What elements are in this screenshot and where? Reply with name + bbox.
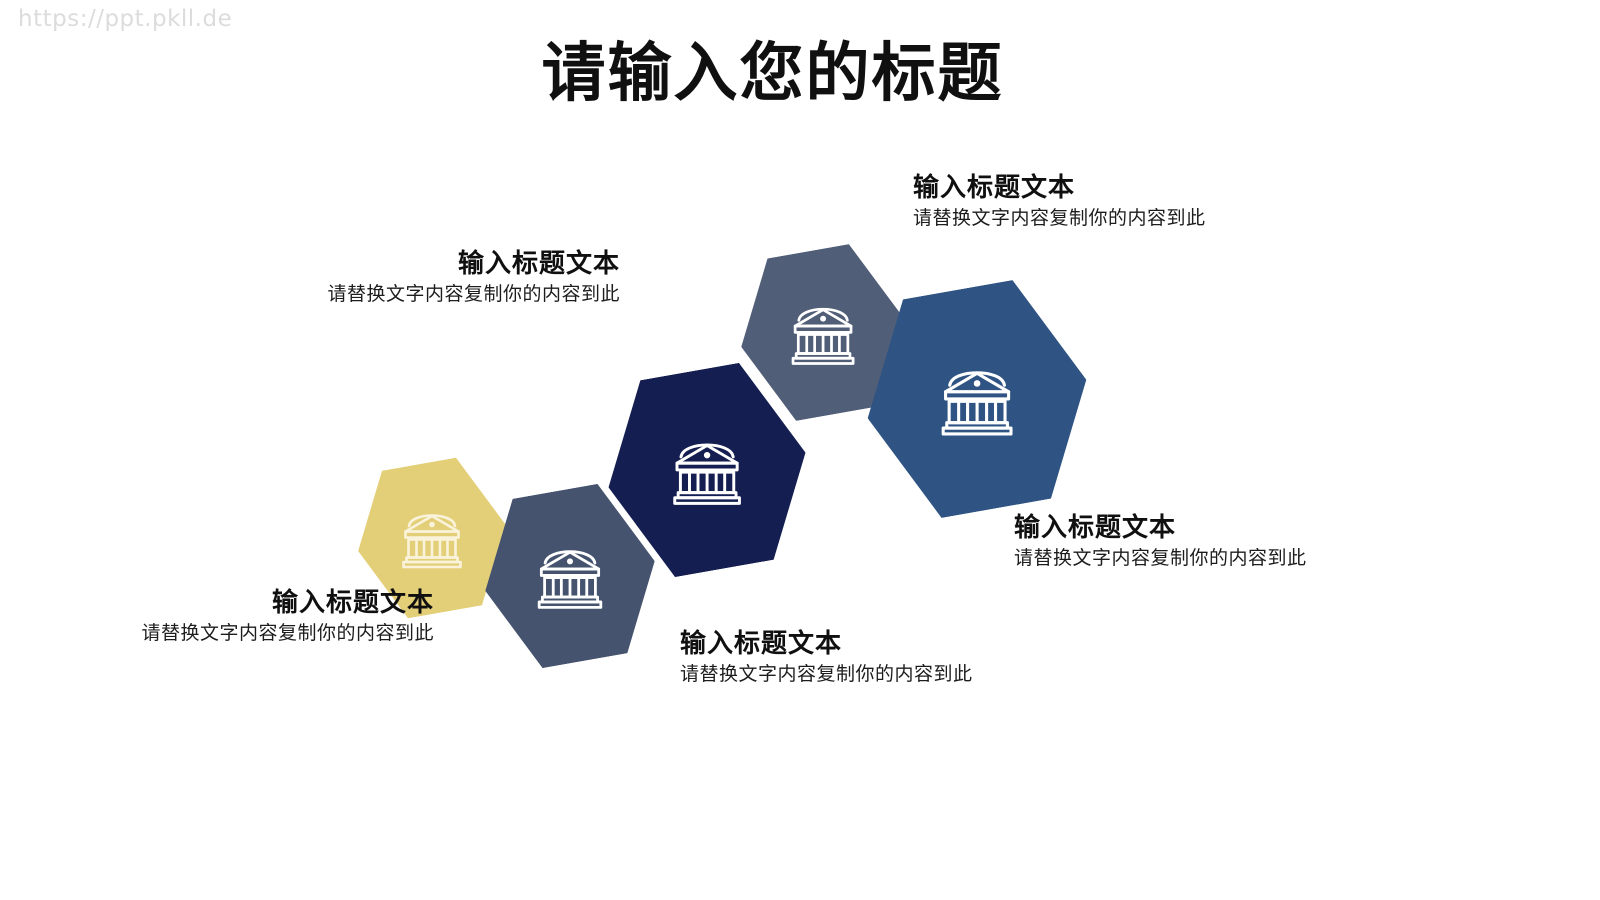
label-node-5: 输入标题文本 请替换文字内容复制你的内容到此 [1014,511,1454,573]
slide-canvas: https://ppt.pkll.de 请输入您的标题 [0,0,1600,900]
bank-icon [784,298,862,368]
label-desc-2: 请替换文字内容复制你的内容到此 [680,660,1120,689]
hexagon-icon-wrap-2 [530,540,610,612]
label-node-2: 输入标题文本 请替换文字内容复制你的内容到此 [680,627,1120,689]
bank-icon [665,433,749,508]
hexagon-icon-wrap-3 [665,433,749,508]
label-desc-4: 请替换文字内容复制你的内容到此 [913,204,1353,233]
label-node-3: 输入标题文本 请替换文字内容复制你的内容到此 [180,247,620,309]
label-node-4: 输入标题文本 请替换文字内容复制你的内容到此 [913,171,1353,233]
hexagon-icon-wrap-5 [933,360,1021,439]
label-desc-3: 请替换文字内容复制你的内容到此 [180,280,620,309]
bank-icon [530,540,610,612]
bank-icon [933,360,1021,439]
bank-icon [395,505,469,571]
label-desc-1: 请替换文字内容复制你的内容到此 [0,619,434,648]
label-title-3: 输入标题文本 [180,247,620,280]
hexagon-icon-wrap-1 [395,505,469,571]
label-title-5: 输入标题文本 [1014,511,1454,544]
page-title: 请输入您的标题 [0,22,1545,114]
hexagon-icon-wrap-4 [784,298,862,368]
label-title-1: 输入标题文本 [0,586,434,619]
label-title-2: 输入标题文本 [680,627,1120,660]
label-desc-5: 请替换文字内容复制你的内容到此 [1014,544,1454,573]
label-title-4: 输入标题文本 [913,171,1353,204]
label-node-1: 输入标题文本 请替换文字内容复制你的内容到此 [0,586,434,648]
